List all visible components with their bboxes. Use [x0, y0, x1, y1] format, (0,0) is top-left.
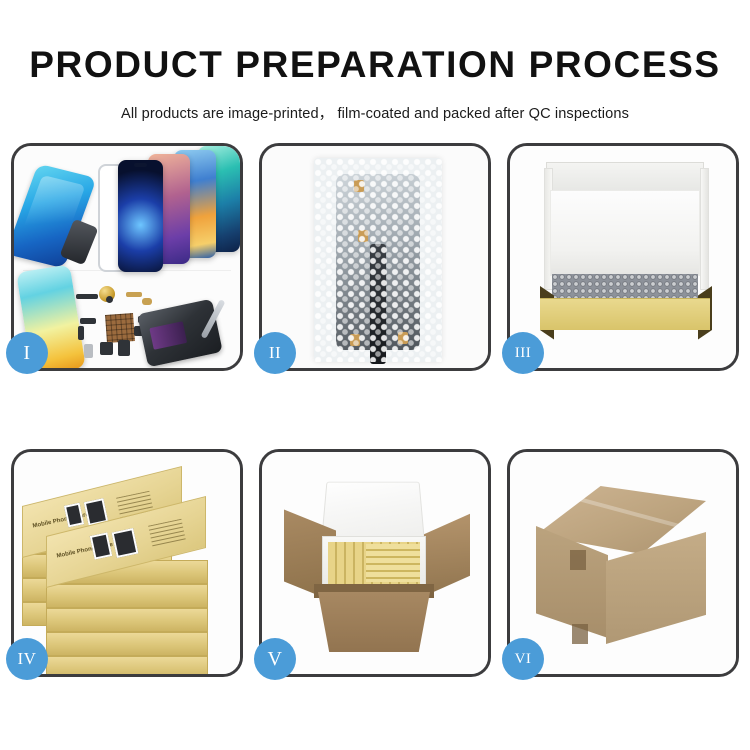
page-subtitle: All products are image-printed， film-coa… — [0, 102, 750, 123]
contact-grid-icon — [105, 313, 135, 343]
process-step-1[interactable]: I — [11, 143, 243, 371]
bubble-wrap-bag — [314, 158, 442, 362]
step-1-photo — [14, 146, 240, 368]
process-step-2[interactable]: II — [259, 143, 491, 371]
step-4-photo: Mobile Phone Spare Parts Mobile Phone Sp… — [14, 452, 240, 674]
phone-back-housing-icon — [137, 299, 223, 368]
step-3-photo — [510, 146, 736, 368]
carton-tape-lower — [572, 624, 588, 644]
process-step-5[interactable]: V — [259, 449, 491, 677]
stacked-box-f3 — [46, 608, 208, 632]
part-gold-chip-icon — [142, 298, 152, 305]
step-badge-5: V — [254, 638, 296, 680]
stacked-box-f2 — [46, 584, 208, 608]
carton-front — [318, 592, 430, 652]
bubble-texture-overlay — [319, 163, 442, 362]
step-badge-1: I — [6, 332, 48, 374]
step-6-photo — [510, 452, 736, 674]
part-cable-icon — [80, 318, 96, 324]
part-bracket-icon — [78, 326, 84, 340]
part-screw-icon — [106, 296, 113, 303]
part-button-icon — [100, 342, 113, 355]
page-title: PRODUCT PREPARATION PROCESS — [0, 46, 750, 83]
step-badge-6: VI — [502, 638, 544, 680]
white-foam-sheet — [550, 190, 700, 276]
stacked-box-f4 — [46, 632, 208, 656]
step-badge-3: III — [502, 332, 544, 374]
process-step-4[interactable]: Mobile Phone Spare Parts Mobile Phone Sp… — [11, 449, 243, 677]
part-gold-flex-icon — [126, 292, 142, 297]
box-wall-right — [700, 168, 709, 290]
header: PRODUCT PREPARATION PROCESS All products… — [0, 0, 750, 123]
process-step-6[interactable]: VI — [507, 449, 739, 677]
product-preparation-infographic: PRODUCT PREPARATION PROCESS All products… — [0, 0, 750, 750]
process-steps-grid: I II — [11, 143, 739, 677]
part-strip-icon — [76, 294, 98, 299]
process-step-3[interactable]: III — [507, 143, 739, 371]
part-vibrator-icon — [118, 340, 130, 356]
step-2-photo — [262, 146, 488, 368]
grey-bubble-wrap — [552, 274, 698, 300]
step-5-photo — [262, 452, 488, 674]
stacked-box-f5 — [46, 656, 208, 674]
yellow-boxes-horizontal — [366, 544, 420, 582]
step-badge-4: IV — [6, 638, 48, 680]
part-sim-tray-icon — [84, 344, 93, 358]
yellow-box-front — [540, 298, 710, 330]
carton-tape-upper — [570, 550, 586, 570]
phone-blue-burst-icon — [118, 160, 163, 272]
foam-lid — [321, 482, 424, 540]
step-badge-2: II — [254, 332, 296, 374]
